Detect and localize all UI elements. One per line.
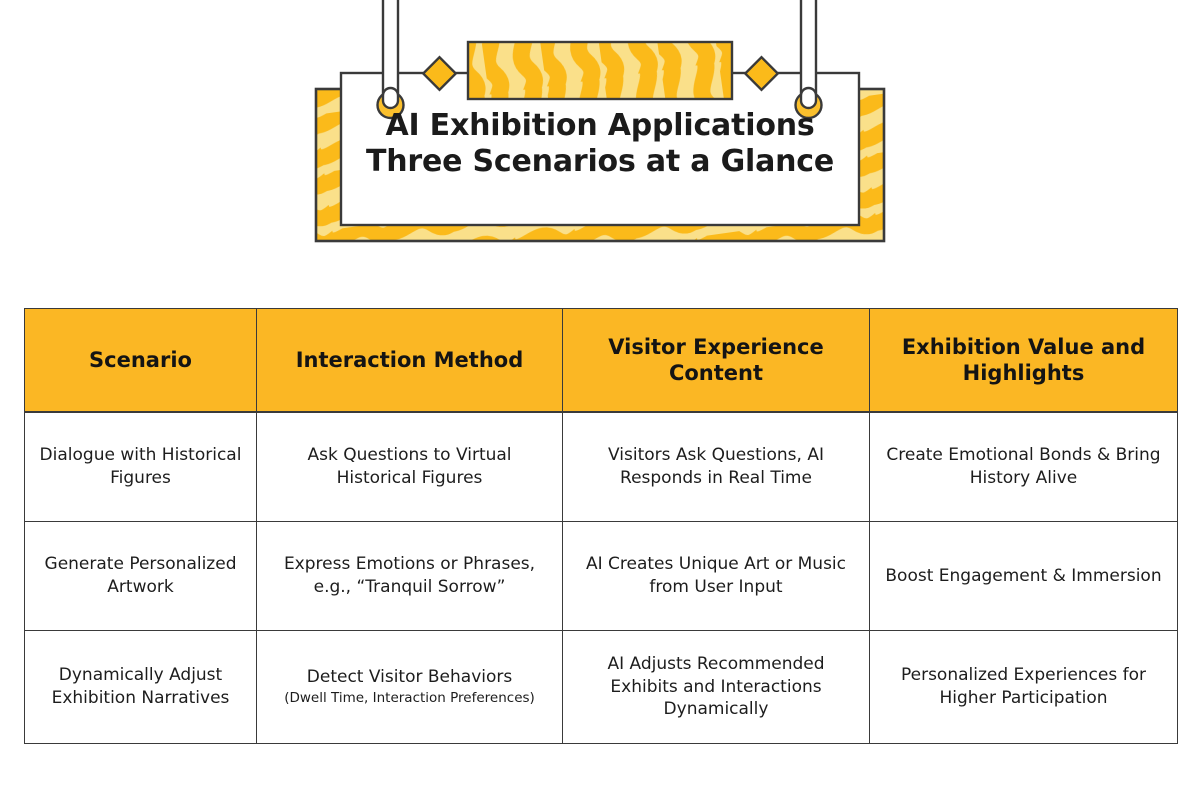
cell-interaction-method-note: (Dwell Time, Interaction Preferences)	[267, 690, 552, 708]
cell-exhibition-value: Create Emotional Bonds & Bring History A…	[870, 412, 1178, 522]
cell-interaction-method-main: Ask Questions to Virtual Historical Figu…	[267, 444, 552, 489]
cell-exhibition-value: Boost Engagement & Immersion	[870, 522, 1178, 631]
cell-interaction-method: Express Emotions or Phrases, e.g., “Tran…	[257, 522, 563, 631]
column-header-visitor-experience-content: Visitor Experience Content	[563, 309, 870, 413]
column-header-scenario: Scenario	[25, 309, 257, 413]
cell-interaction-method: Ask Questions to Virtual Historical Figu…	[257, 412, 563, 522]
cell-scenario: Dialogue with Historical Figures	[25, 412, 257, 522]
cell-visitor-experience: Visitors Ask Questions, AI Responds in R…	[563, 412, 870, 522]
column-header-exhibition-value-and-highlights: Exhibition Value and Highlights	[870, 309, 1178, 413]
banner-graphic	[300, 0, 900, 255]
column-header-interaction-method: Interaction Method	[257, 309, 563, 413]
cell-interaction-method-main: Express Emotions or Phrases, e.g., “Tran…	[267, 553, 552, 598]
cell-visitor-experience: AI Creates Unique Art or Music from User…	[563, 522, 870, 631]
patterned-top-plate	[468, 42, 732, 99]
scenarios-table: Scenario Interaction Method Visitor Expe…	[24, 308, 1178, 744]
cell-exhibition-value: Personalized Experiences for Higher Part…	[870, 631, 1178, 744]
cell-scenario: Dynamically Adjust Exhibition Narratives	[25, 631, 257, 744]
cell-visitor-experience: AI Adjusts Recommended Exhibits and Inte…	[563, 631, 870, 744]
table-header: Scenario Interaction Method Visitor Expe…	[25, 309, 1178, 413]
table-row: Dialogue with Historical Figures Ask Que…	[25, 412, 1178, 522]
cell-scenario: Generate Personalized Artwork	[25, 522, 257, 631]
table-header-row: Scenario Interaction Method Visitor Expe…	[25, 309, 1178, 413]
table-body: Dialogue with Historical Figures Ask Que…	[25, 412, 1178, 744]
cell-interaction-method-main: Detect Visitor Behaviors	[267, 666, 552, 689]
scenarios-table-region: Scenario Interaction Method Visitor Expe…	[24, 308, 1177, 744]
title-banner: AI Exhibition Applications Three Scenari…	[300, 0, 900, 255]
cell-interaction-method: Detect Visitor Behaviors (Dwell Time, In…	[257, 631, 563, 744]
table-row: Dynamically Adjust Exhibition Narratives…	[25, 631, 1178, 744]
table-row: Generate Personalized Artwork Express Em…	[25, 522, 1178, 631]
